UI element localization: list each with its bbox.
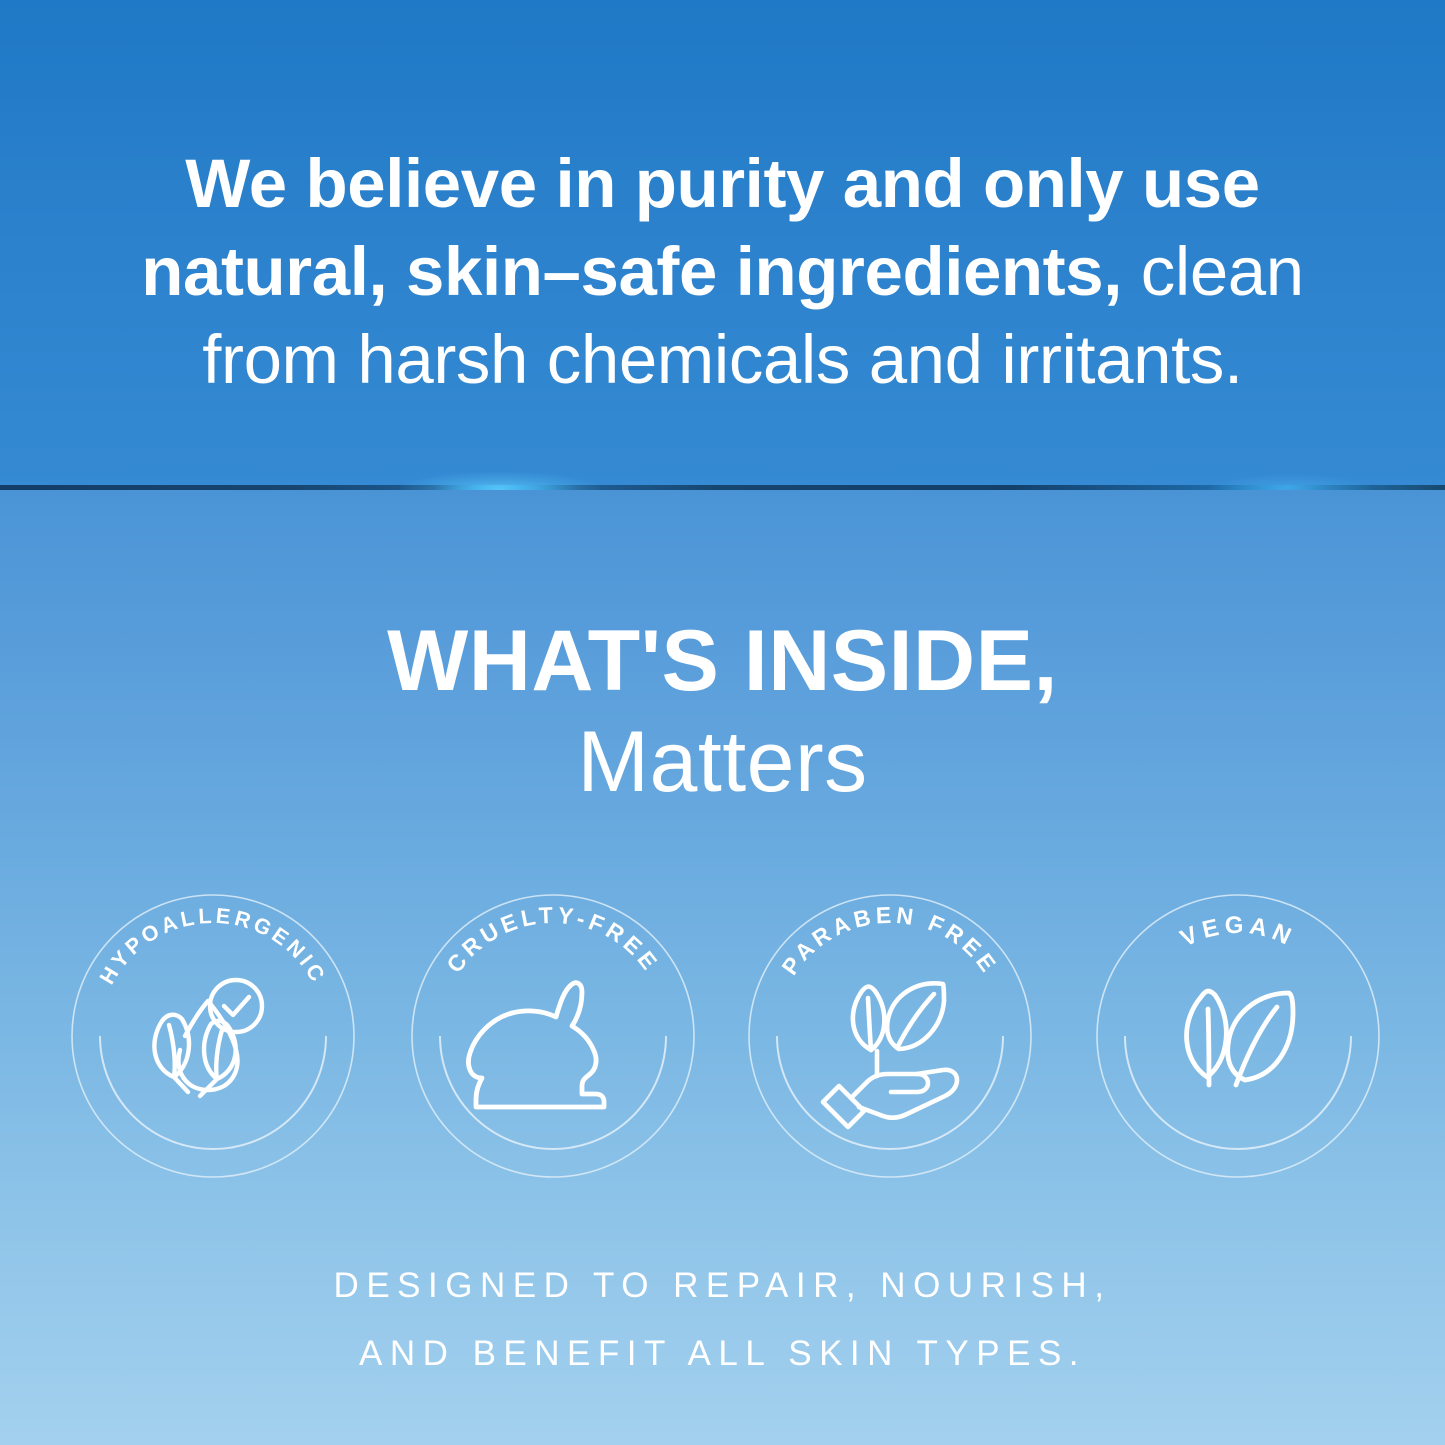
- badge-outer-ring: [72, 895, 354, 1177]
- section-title-line-2: Matters: [0, 710, 1445, 814]
- badge-label: PARABEN FREE: [776, 902, 1003, 980]
- rabbit-icon: [469, 983, 605, 1107]
- badge-inner-arc: [100, 1036, 326, 1149]
- badge-cruelty-free: CRUELTY-FREE: [410, 893, 696, 1179]
- badge-row: HYPOALLERGENIC: [0, 893, 1445, 1193]
- badge-label: CRUELTY-FREE: [441, 902, 665, 978]
- hand-holding-leaves-icon: [823, 983, 957, 1127]
- hero-line-1: We believe in purity and only use: [185, 145, 1259, 222]
- two-leaves-icon: [1187, 991, 1293, 1085]
- badge-paraben-free: PARABEN FREE: [747, 893, 1033, 1179]
- droplet-leaves-check-icon: [154, 980, 262, 1096]
- badge-label: HYPOALLERGENIC: [95, 904, 331, 989]
- section-title-line-1: WHAT'S INSIDE,: [0, 612, 1445, 710]
- section-title: WHAT'S INSIDE, Matters: [0, 612, 1445, 814]
- badge-vegan: VEGAN: [1095, 893, 1381, 1179]
- badge-inner-arc: [440, 1036, 666, 1149]
- hero-line-3: from harsh chemicals and irritants.: [202, 321, 1243, 398]
- tagline-line-1: DESIGNED TO REPAIR, NOURISH,: [0, 1252, 1445, 1320]
- badge-outer-ring: [412, 895, 694, 1177]
- hero-panel: We believe in purity and only use natura…: [0, 0, 1445, 488]
- badge-inner-arc: [1125, 1036, 1351, 1149]
- badge-label: VEGAN: [1176, 912, 1299, 953]
- marketing-infographic: We believe in purity and only use natura…: [0, 0, 1445, 1445]
- hero-line-2-bold: natural, skin–safe ingredients,: [141, 233, 1122, 310]
- hero-headline: We believe in purity and only use natura…: [60, 140, 1385, 404]
- tagline: DESIGNED TO REPAIR, NOURISH, AND BENEFIT…: [0, 1252, 1445, 1388]
- hero-line-2-regular: clean: [1122, 233, 1304, 310]
- badge-hypoallergenic: HYPOALLERGENIC: [70, 893, 356, 1179]
- tagline-line-2: AND BENEFIT ALL SKIN TYPES.: [0, 1320, 1445, 1388]
